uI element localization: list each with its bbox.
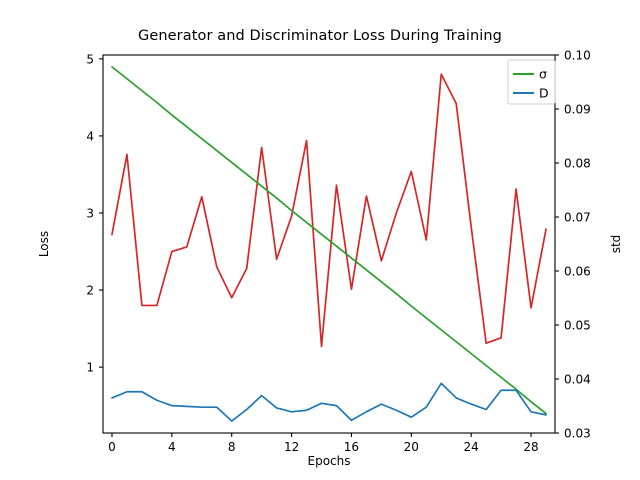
- y2-tick-label: 0.09: [564, 103, 591, 117]
- x-tick-label: 28: [523, 440, 538, 454]
- legend[interactable]: σD: [508, 60, 555, 104]
- y2-tick-label: 0.05: [564, 319, 591, 333]
- x-tick-label: 4: [168, 440, 176, 454]
- series-line-g: [112, 74, 546, 346]
- x-tick-label: 20: [404, 440, 419, 454]
- x-tick-label: 16: [344, 440, 359, 454]
- y-tick-label: 4: [86, 129, 94, 143]
- y2-tick-label: 0.08: [564, 157, 591, 171]
- plot-area: 0481216202428 12345 0.030.040.050.060.07…: [0, 0, 640, 480]
- y2-tick-label: 0.04: [564, 373, 591, 387]
- x-tick-label: 8: [228, 440, 236, 454]
- y2-tick-label: 0.10: [564, 49, 591, 63]
- y2-axis-label: std: [609, 235, 623, 254]
- y2-tick-label: 0.07: [564, 211, 591, 225]
- y2-tick-label: 0.06: [564, 265, 591, 279]
- x-axis-ticks: 0481216202428: [108, 433, 539, 454]
- figure-canvas: Generator and Discriminator Loss During …: [0, 0, 640, 480]
- legend-label: σ: [539, 67, 547, 82]
- axes-frame: [103, 55, 555, 433]
- data-series-group: [112, 67, 546, 421]
- series-line-d: [112, 383, 546, 421]
- y-tick-label: 5: [86, 52, 94, 66]
- y2-axis-ticks: 0.030.040.050.060.070.080.090.10: [555, 49, 591, 441]
- y-axis-ticks: 12345: [86, 52, 103, 374]
- legend-label: D: [539, 86, 549, 101]
- x-axis-label: Epochs: [308, 454, 351, 468]
- y2-tick-label: 0.03: [564, 427, 591, 441]
- x-tick-label: 24: [464, 440, 479, 454]
- x-tick-label: 12: [284, 440, 299, 454]
- x-tick-label: 0: [108, 440, 116, 454]
- y-tick-label: 1: [86, 361, 94, 375]
- y-axis-label: Loss: [37, 231, 51, 257]
- y-tick-label: 2: [86, 284, 94, 298]
- y-tick-label: 3: [86, 206, 94, 220]
- series-line-sigma: [112, 67, 546, 414]
